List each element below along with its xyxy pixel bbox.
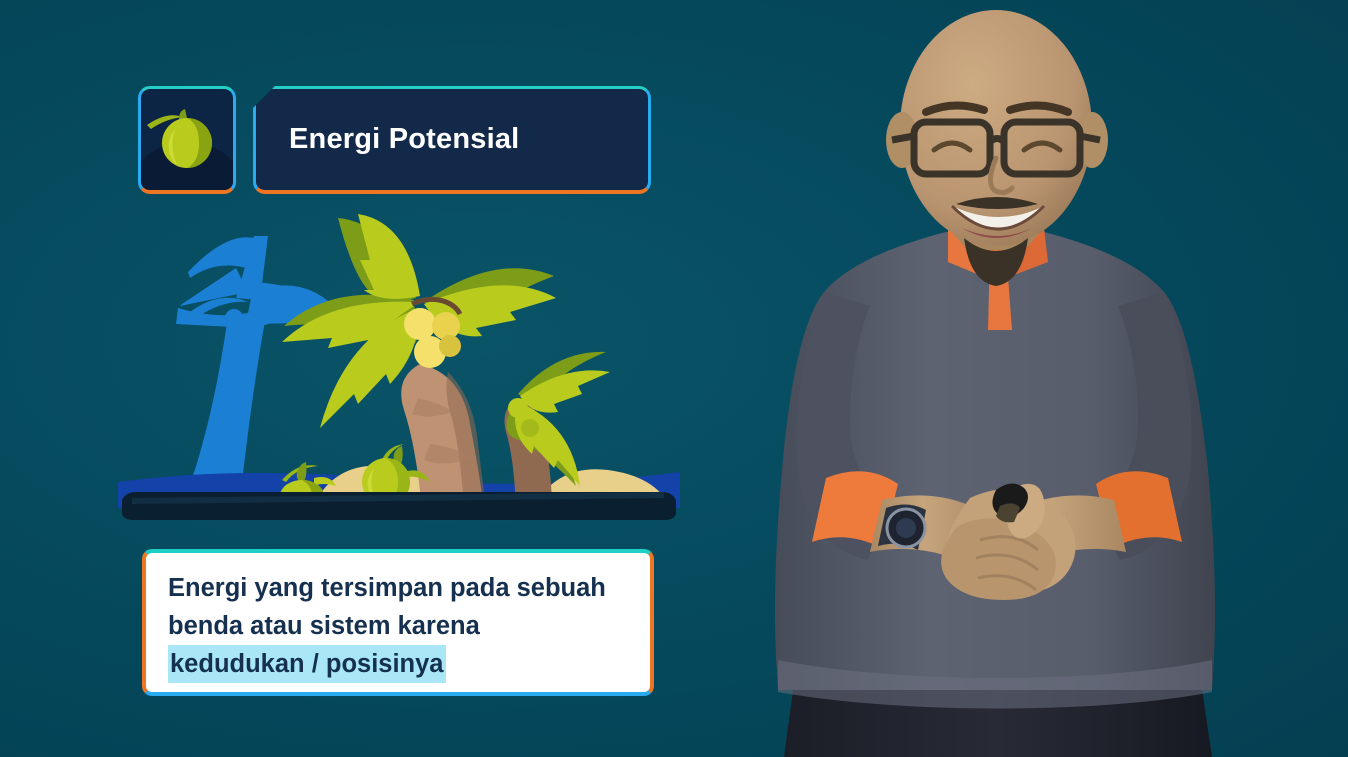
definition-card: Energi yang tersimpan pada sebuah benda … xyxy=(142,549,654,696)
presenter-photo xyxy=(700,0,1300,757)
coconut-tree-illustration xyxy=(118,212,680,520)
topic-title-bar: Energi Potensial xyxy=(253,86,651,194)
definition-line-1: Energi yang tersimpan pada sebuah xyxy=(168,569,630,607)
blue-silhouette-palm-tree xyxy=(176,236,358,500)
slide-stage: Energi Potensial xyxy=(0,0,1348,757)
small-coconut-b xyxy=(521,419,539,437)
definition-line-3-highlighted: kedudukan / posisinya xyxy=(168,645,446,683)
small-coconut-a xyxy=(508,398,528,418)
coconut-d xyxy=(439,335,461,357)
topic-badge-icon xyxy=(138,86,236,194)
presenter-head xyxy=(900,10,1092,246)
page-title: Energi Potensial xyxy=(289,123,519,156)
definition-line-2: benda atau sistem karena xyxy=(168,607,630,645)
coconut-a xyxy=(404,308,436,340)
coconut-icon xyxy=(141,89,233,190)
